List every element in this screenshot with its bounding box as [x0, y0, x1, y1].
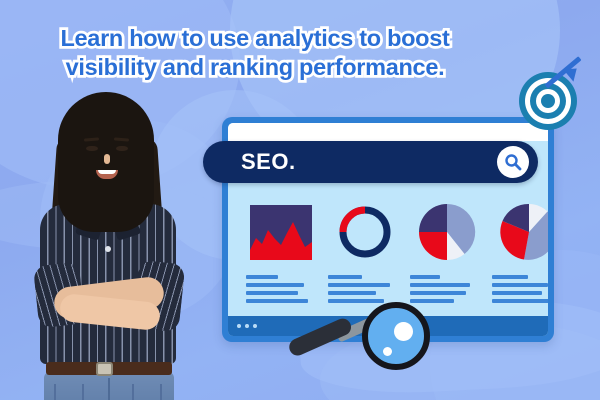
search-icon — [504, 153, 522, 171]
headline: Learn how to use analytics to boost visi… — [0, 24, 510, 81]
seo-banner-graphic: Learn how to use analytics to boost visi… — [0, 0, 600, 400]
text-line — [492, 291, 542, 295]
progress-donut-chart — [336, 203, 394, 261]
belt-buckle — [96, 362, 113, 376]
nose — [104, 154, 110, 164]
text-line — [246, 275, 278, 279]
jeans-pocket — [132, 384, 162, 400]
search-bar[interactable]: SEO. — [203, 141, 538, 183]
eye — [116, 146, 128, 151]
text-column — [328, 275, 394, 303]
text-line — [492, 283, 548, 287]
footer-dot-icon — [245, 324, 249, 328]
text-line — [328, 275, 362, 279]
browser-titlebar — [228, 123, 548, 141]
footer-dot-icon — [253, 324, 257, 328]
footer-dot-icon — [237, 324, 241, 328]
text-line — [410, 275, 440, 279]
breakdown-pie-chart-1 — [418, 203, 476, 261]
text-line — [328, 291, 376, 295]
text-line — [328, 283, 390, 287]
target-bullseye-center — [541, 94, 555, 108]
breakdown-pie-chart-2 — [500, 203, 548, 261]
search-query-text: SEO. — [241, 149, 296, 175]
text-line — [410, 291, 466, 295]
magnifier-highlight — [394, 322, 413, 341]
text-column — [492, 275, 548, 303]
traffic-area-chart — [250, 205, 312, 260]
jeans-pocket — [54, 384, 84, 400]
text-column — [246, 275, 312, 303]
headline-line-2: visibility and ranking performance. — [0, 53, 510, 82]
magnifier-highlight — [383, 347, 392, 356]
area-chart-svg — [250, 205, 312, 260]
text-line — [492, 299, 548, 303]
donut-chart-svg — [336, 203, 394, 261]
pie-chart-1-svg — [418, 203, 476, 261]
text-line — [246, 283, 304, 287]
teeth — [98, 170, 116, 174]
headline-line-1: Learn how to use analytics to boost — [60, 25, 449, 51]
jeans-seam — [108, 378, 110, 400]
placeholder-text-columns — [246, 275, 548, 303]
target-bullseye-icon — [519, 72, 585, 138]
search-button[interactable] — [497, 146, 529, 178]
text-column — [410, 275, 476, 303]
eye — [86, 146, 98, 151]
text-line — [410, 283, 470, 287]
charts-row — [250, 201, 548, 263]
pie-chart-2-svg — [500, 203, 548, 261]
shirt-button — [105, 246, 111, 252]
text-line — [492, 275, 528, 279]
text-line — [246, 291, 298, 295]
magnifying-glass-icon — [290, 302, 430, 384]
avatar — [24, 86, 192, 400]
